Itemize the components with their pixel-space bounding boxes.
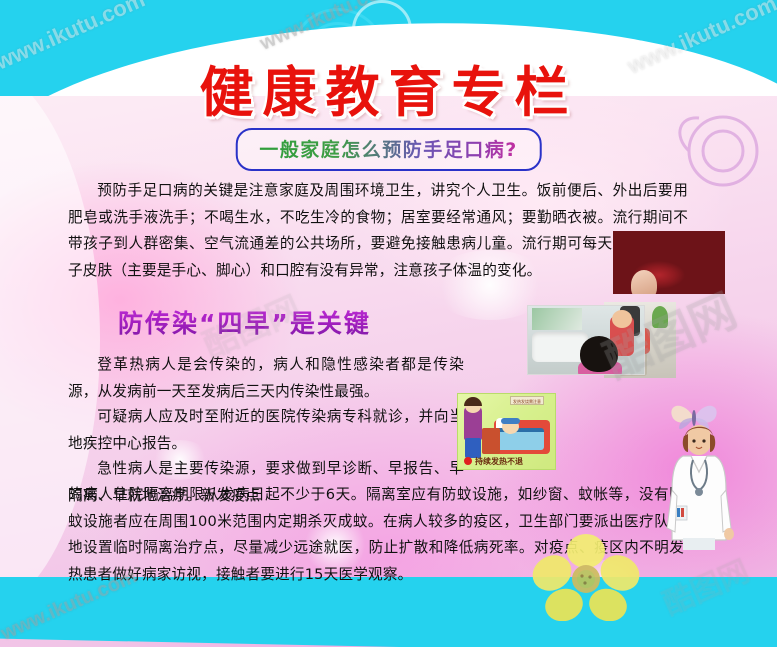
cartoon-banner-text: 发热发烧需注意 bbox=[510, 396, 544, 405]
photo-plant bbox=[652, 306, 668, 328]
subtitle-text: 一般家庭怎么预防手足口病? bbox=[259, 135, 518, 162]
photo-mirror bbox=[532, 308, 582, 330]
paragraph-suspected-case: 可疑病人应及时至附近的医院传染病专科就诊，并向当地疾控中心报告。 bbox=[68, 404, 464, 457]
page-title: 健康教育专栏 bbox=[0, 48, 777, 127]
photo-mouth-lesion bbox=[613, 231, 725, 294]
health-education-poster: 健康教育专栏 一般家庭怎么预防手足口病? 预防手足口病的关键是注意家庭及周围环境… bbox=[0, 0, 777, 647]
photo-girl-hair bbox=[580, 336, 618, 372]
cartoon-mother-legs bbox=[465, 438, 481, 458]
illustration-doctor bbox=[663, 420, 741, 585]
cartoon-mother-hair bbox=[464, 397, 482, 406]
photo-mouth-finger bbox=[631, 270, 657, 294]
illustration-sick-child-in-bed: 发热发烧需注意 持续发热不退 bbox=[457, 393, 556, 470]
paragraph-dengue-transmission: 登革热病人是会传染的，病人和隐性感染者都是传染源，从发病前一天至发病后三天内传染… bbox=[68, 352, 464, 405]
paragraph-prevention: 预防手足口病的关键是注意家庭及周围环境卫生，讲究个人卫生。饭前便后、外出后要用肥… bbox=[68, 178, 688, 284]
cartoon-nightstand bbox=[482, 428, 500, 454]
cartoon-caption: 持续发热不退 bbox=[475, 456, 523, 467]
flower-decoration-icon bbox=[528, 533, 644, 621]
section-heading-four-early: 防传染“四早”是关键 bbox=[118, 304, 371, 340]
cartoon-forehead-towel bbox=[501, 418, 520, 424]
cartoon-caption-dot-icon bbox=[464, 457, 472, 465]
photo-handwashing bbox=[527, 305, 645, 375]
photo-boy-head bbox=[612, 310, 632, 328]
subtitle-box: 一般家庭怎么预防手足口病? bbox=[235, 128, 542, 171]
